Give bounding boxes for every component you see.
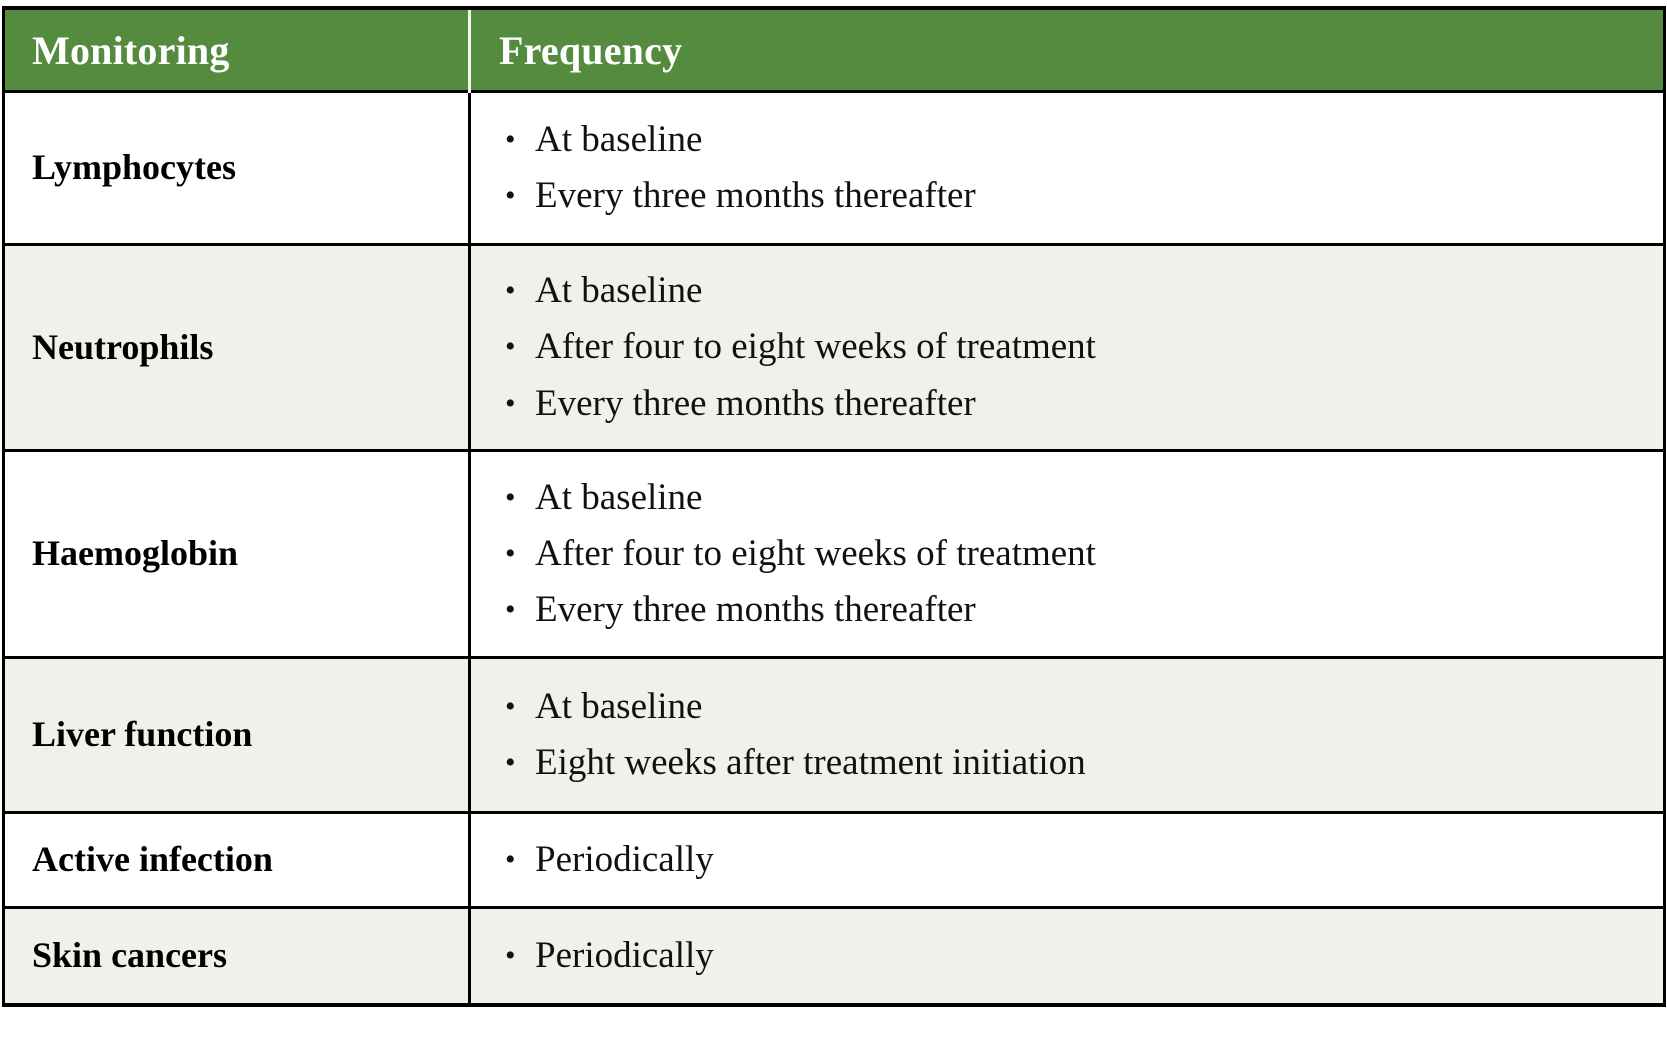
monitoring-frequency-table: Monitoring Frequency Lymphocytes •At bas…	[2, 6, 1666, 1007]
bullet-icon: •	[505, 582, 516, 638]
table-row: Lymphocytes •At baseline •Every three mo…	[4, 92, 1665, 245]
table-row: Haemoglobin •At baseline •After four to …	[4, 451, 1665, 658]
bullet-icon: •	[505, 376, 516, 432]
cell-monitoring-liver-function: Liver function	[4, 658, 470, 813]
bullet-icon: •	[505, 168, 516, 224]
list-item: •After four to eight weeks of treatment	[499, 526, 1663, 582]
list-item: •At baseline	[499, 263, 1663, 319]
list-item: •Periodically	[499, 832, 1663, 888]
list-item-label: At baseline	[535, 477, 702, 518]
monitoring-frequency-table-container: Monitoring Frequency Lymphocytes •At bas…	[2, 6, 1663, 1007]
column-header-frequency: Frequency	[470, 8, 1665, 92]
list-item: •At baseline	[499, 470, 1663, 526]
list-item: •Every three months thereafter	[499, 376, 1663, 432]
bullet-icon: •	[505, 526, 516, 582]
table-header-row: Monitoring Frequency	[4, 8, 1665, 92]
cell-frequency-neutrophils: •At baseline •After four to eight weeks …	[470, 245, 1665, 451]
frequency-list: •At baseline •Eight weeks after treatmen…	[499, 679, 1663, 791]
list-item-label: Every three months thereafter	[535, 383, 976, 424]
table-body: Lymphocytes •At baseline •Every three mo…	[4, 92, 1665, 1006]
list-item: •After four to eight weeks of treatment	[499, 319, 1663, 375]
frequency-list: •Periodically	[499, 928, 1663, 984]
list-item-label: After four to eight weeks of treatment	[535, 326, 1096, 367]
list-item-label: Every three months thereafter	[535, 589, 976, 630]
cell-monitoring-skin-cancers: Skin cancers	[4, 908, 470, 1006]
frequency-list: •Periodically	[499, 832, 1663, 888]
list-item: •Every three months thereafter	[499, 582, 1663, 638]
bullet-icon: •	[505, 735, 516, 791]
list-item-label: At baseline	[535, 686, 702, 727]
column-header-monitoring: Monitoring	[4, 8, 470, 92]
cell-frequency-active-infection: •Periodically	[470, 813, 1665, 908]
cell-frequency-lymphocytes: •At baseline •Every three months thereaf…	[470, 92, 1665, 245]
frequency-list: •At baseline •Every three months thereaf…	[499, 112, 1663, 224]
cell-monitoring-active-infection: Active infection	[4, 813, 470, 908]
list-item-label: At baseline	[535, 119, 702, 160]
list-item: •Eight weeks after treatment initiation	[499, 735, 1663, 791]
list-item-label: Periodically	[535, 839, 714, 880]
bullet-icon: •	[505, 832, 516, 888]
list-item-label: Eight weeks after treatment initiation	[535, 742, 1086, 783]
list-item: •Periodically	[499, 928, 1663, 984]
cell-frequency-liver-function: •At baseline •Eight weeks after treatmen…	[470, 658, 1665, 813]
bullet-icon: •	[505, 319, 516, 375]
bullet-icon: •	[505, 928, 516, 984]
bullet-icon: •	[505, 470, 516, 526]
list-item-label: Periodically	[535, 935, 714, 976]
list-item-label: Every three months thereafter	[535, 175, 976, 216]
bullet-icon: •	[505, 263, 516, 319]
cell-frequency-haemoglobin: •At baseline •After four to eight weeks …	[470, 451, 1665, 658]
table-row: Active infection •Periodically	[4, 813, 1665, 908]
list-item-label: At baseline	[535, 270, 702, 311]
list-item: •At baseline	[499, 679, 1663, 735]
cell-monitoring-haemoglobin: Haemoglobin	[4, 451, 470, 658]
bullet-icon: •	[505, 112, 516, 168]
cell-monitoring-lymphocytes: Lymphocytes	[4, 92, 470, 245]
frequency-list: •At baseline •After four to eight weeks …	[499, 263, 1663, 432]
table-header: Monitoring Frequency	[4, 8, 1665, 92]
cell-frequency-skin-cancers: •Periodically	[470, 908, 1665, 1006]
cell-monitoring-neutrophils: Neutrophils	[4, 245, 470, 451]
list-item-label: After four to eight weeks of treatment	[535, 533, 1096, 574]
list-item: •At baseline	[499, 112, 1663, 168]
list-item: •Every three months thereafter	[499, 168, 1663, 224]
table-row: Neutrophils •At baseline •After four to …	[4, 245, 1665, 451]
bullet-icon: •	[505, 679, 516, 735]
frequency-list: •At baseline •After four to eight weeks …	[499, 470, 1663, 639]
table-row: Liver function •At baseline •Eight weeks…	[4, 658, 1665, 813]
table-row: Skin cancers •Periodically	[4, 908, 1665, 1006]
